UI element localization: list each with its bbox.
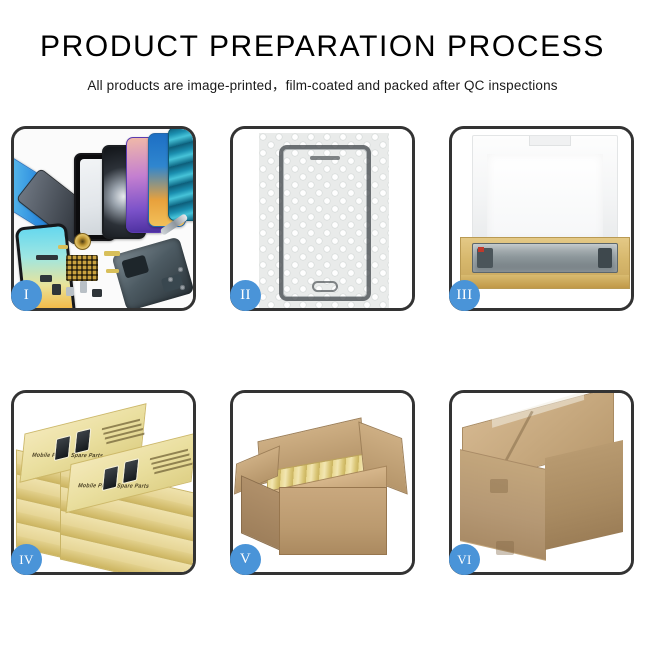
screw-part	[180, 285, 185, 290]
product-process-infographic: PRODUCT PREPARATION PROCESS All products…	[0, 0, 645, 645]
chip-grid-part	[66, 255, 98, 281]
phone-housing	[111, 236, 193, 308]
step-1-image	[14, 129, 193, 308]
carton-handle-notch	[496, 541, 514, 555]
step-badge-3: III	[449, 280, 480, 311]
sealed-carton-side	[545, 440, 623, 550]
page-title: PRODUCT PREPARATION PROCESS	[0, 30, 645, 63]
speaker-cutout	[310, 156, 340, 160]
home-button-cutout	[312, 281, 338, 292]
process-step-3: III	[449, 126, 634, 311]
step-badge-4: IV	[11, 544, 42, 575]
step-badge-5: V	[230, 544, 261, 575]
process-step-5: V	[230, 390, 415, 575]
small-part	[92, 289, 102, 297]
flex-cable-part	[104, 251, 120, 256]
carton-front-face	[279, 487, 387, 555]
page-subtitle: All products are image-printed，film-coat…	[0, 74, 645, 94]
box-stack: Mobile Phone Spare Parts Mobile Phone Sp…	[16, 405, 193, 567]
screw-part	[168, 277, 173, 282]
header: PRODUCT PREPARATION PROCESS All products…	[0, 0, 645, 94]
step-badge-2: II	[230, 280, 261, 311]
copper-coil-part	[74, 233, 91, 250]
step-6-image	[452, 393, 631, 572]
step-2-image	[233, 129, 412, 308]
step-4-image: Mobile Phone Spare Parts Mobile Phone Sp…	[14, 393, 193, 572]
small-part	[80, 281, 87, 293]
carton-handle-notch	[490, 479, 508, 493]
process-grid: I II III	[11, 126, 634, 584]
process-step-1: I	[11, 126, 196, 311]
step-3-image	[452, 129, 631, 308]
step-badge-1: I	[11, 280, 42, 311]
small-part	[52, 284, 61, 295]
small-part	[66, 287, 74, 296]
screw-part	[178, 267, 183, 272]
step-5-image	[233, 393, 412, 572]
screen-in-box	[472, 243, 618, 273]
lid-phone-graphic	[122, 458, 139, 484]
wrapped-screen	[279, 145, 371, 301]
process-step-6: VI	[449, 390, 634, 575]
small-part	[36, 255, 58, 260]
lid-phone-graphic	[74, 428, 91, 454]
small-part	[40, 275, 52, 282]
flex-cable-part	[58, 245, 68, 249]
process-step-2: II	[230, 126, 415, 311]
process-step-4: Mobile Phone Spare Parts Mobile Phone Sp…	[11, 390, 196, 575]
step-badge-6: VI	[449, 544, 480, 575]
phone-teal-striped	[168, 129, 193, 221]
flex-cable-part	[106, 269, 119, 273]
red-label-mark	[478, 247, 484, 252]
foam-lid	[472, 135, 618, 243]
